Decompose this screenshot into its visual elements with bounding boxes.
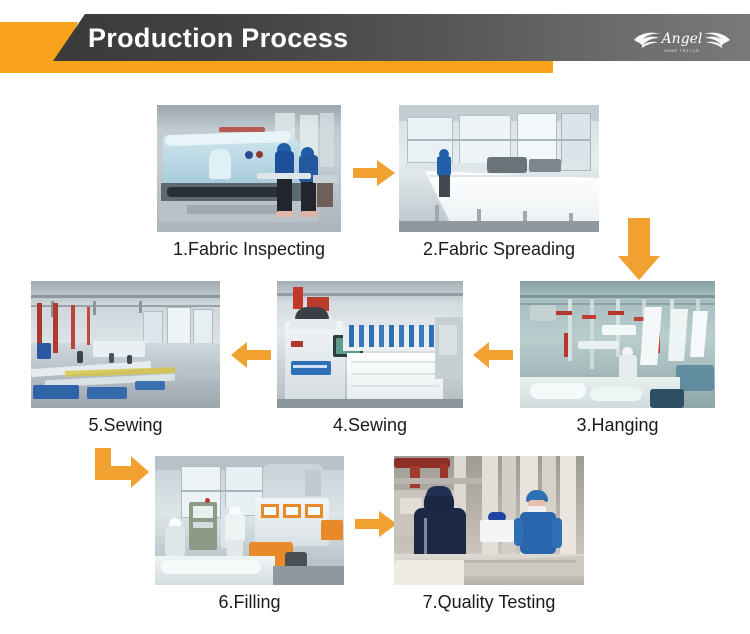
step-photo-quality-testing [394,456,584,585]
arrow-6-to-7 [355,511,397,537]
step-quality-testing[interactable]: 7.Quality Testing [394,456,584,613]
logo-wordmark: Angel [660,31,703,47]
arrow-1-to-2 [353,160,395,186]
arrow-5-to-6 [95,448,149,496]
step-label-quality-testing: 7.Quality Testing [394,592,584,613]
step-label-fabric-inspecting: 1.Fabric Inspecting [157,239,341,260]
page-header: Production Process Angel HOME TEXTILE [0,0,750,90]
arrow-4-to-5 [231,342,271,368]
logo-tagline: HOME TEXTILE [664,49,699,53]
step-photo-filling [155,456,344,585]
step-sewing-4[interactable]: 4.Sewing [277,281,463,436]
step-photo-fabric-inspecting [157,105,341,232]
angel-home-textile-logo: Angel HOME TEXTILE [630,18,734,60]
step-label-sewing-5: 5.Sewing [31,415,220,436]
step-sewing-5[interactable]: 5.Sewing [31,281,220,436]
step-photo-sewing-5 [31,281,220,408]
step-label-hanging: 3.Hanging [520,415,715,436]
arrow-2-to-3 [618,218,666,280]
step-fabric-inspecting[interactable]: 1.Fabric Inspecting [157,105,341,260]
step-filling[interactable]: 6.Filling [155,456,344,613]
step-fabric-spreading[interactable]: 2.Fabric Spreading [399,105,599,260]
arrow-3-to-4 [473,342,513,368]
step-hanging[interactable]: 3.Hanging [520,281,715,436]
step-label-fabric-spreading: 2.Fabric Spreading [399,239,599,260]
step-label-filling: 6.Filling [155,592,344,613]
header-orange-underline [22,61,553,73]
step-photo-hanging [520,281,715,408]
page-title: Production Process [88,19,348,57]
step-label-sewing-4: 4.Sewing [277,415,463,436]
step-photo-fabric-spreading [399,105,599,232]
step-photo-sewing-4 [277,281,463,408]
